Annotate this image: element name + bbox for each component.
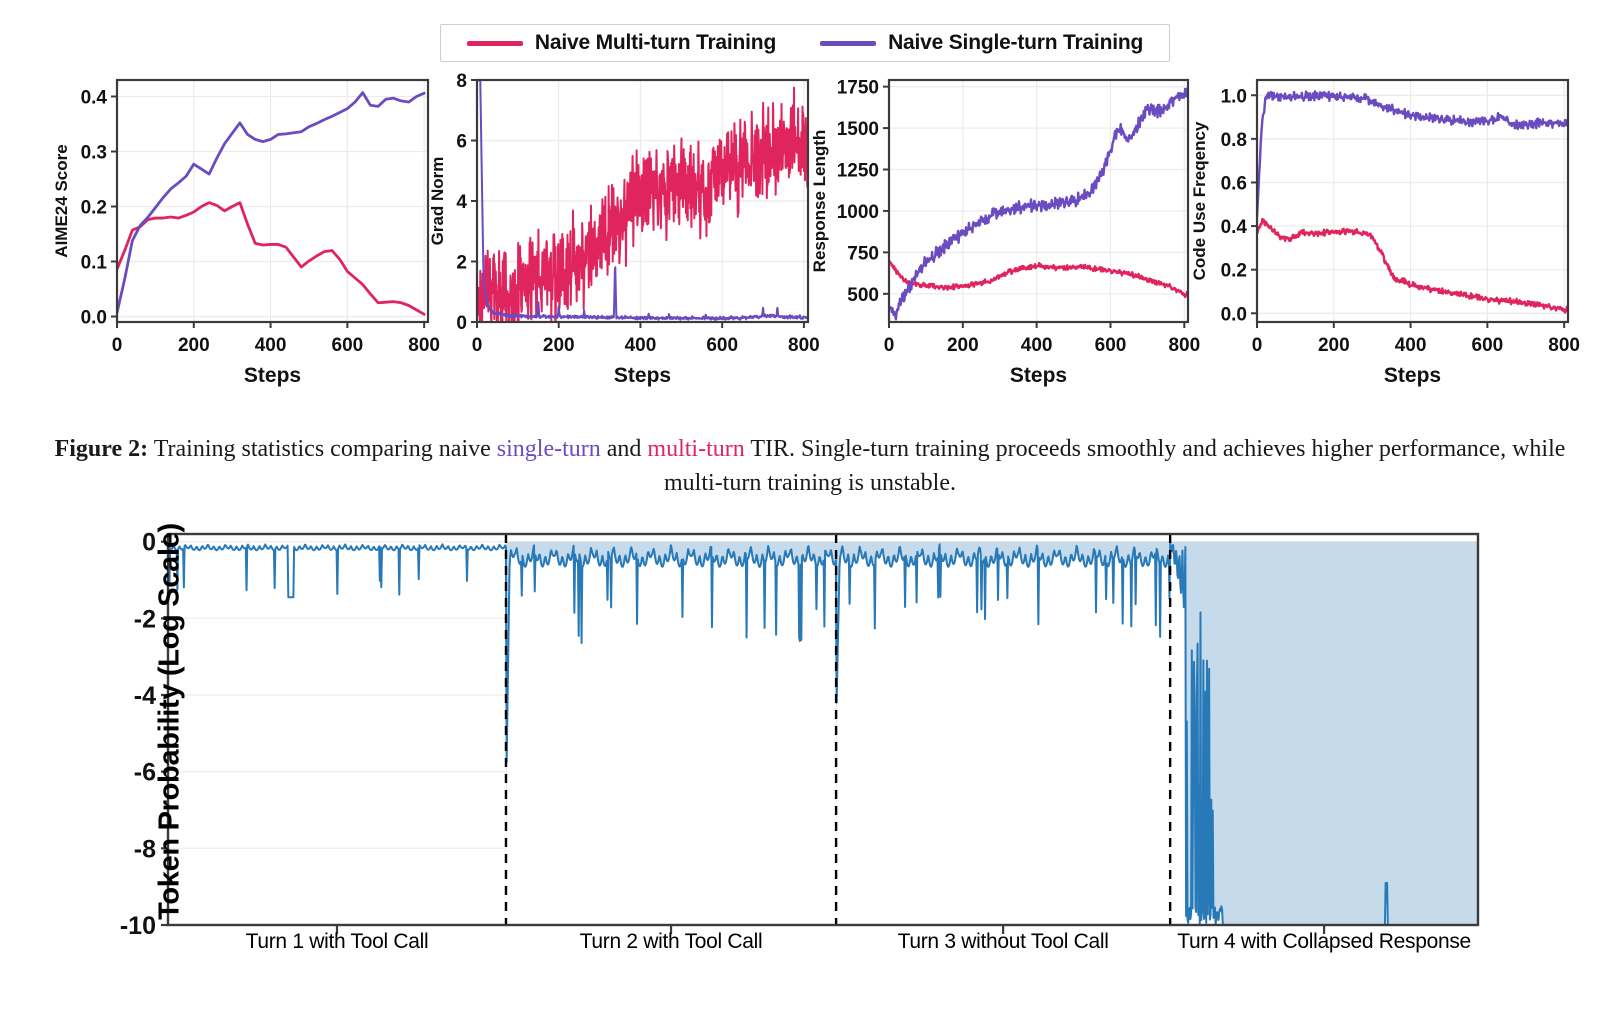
svg-text:0: 0 xyxy=(472,335,483,356)
caption-single-turn-term: single-turn xyxy=(497,436,601,462)
token-probability-ylabel: Token Probability (Log Scale) xyxy=(154,512,187,932)
svg-text:0.8: 0.8 xyxy=(1221,130,1247,151)
figure-2-panels: 0.00.10.20.30.40200400600800StepsAIME24 … xyxy=(0,64,1623,394)
svg-text:Steps: Steps xyxy=(1384,364,1441,387)
svg-text:AIME24 Score: AIME24 Score xyxy=(52,144,71,257)
svg-text:400: 400 xyxy=(1021,335,1053,356)
svg-text:1750: 1750 xyxy=(837,78,879,99)
svg-text:0.1: 0.1 xyxy=(81,253,108,274)
turn-label-4: Turn 4 with Collapsed Response xyxy=(1124,930,1524,954)
caption-figure-number: Figure 2: xyxy=(55,436,149,462)
caption-part-3: TIR. Single-turn training proceeds smoot… xyxy=(664,436,1565,496)
svg-text:Code Use Freqency: Code Use Freqency xyxy=(1190,121,1209,280)
svg-text:800: 800 xyxy=(1548,335,1580,356)
figure-2-legend: Naive Multi-turn Training Naive Single-t… xyxy=(440,24,1170,62)
legend-entry-single-turn: Naive Single-turn Training xyxy=(820,31,1143,55)
svg-text:400: 400 xyxy=(255,335,287,356)
chart-response-length: 50075010001250150017500200400600800Steps… xyxy=(805,64,1200,394)
legend-entry-multi-turn: Naive Multi-turn Training xyxy=(467,31,776,55)
svg-text:0: 0 xyxy=(112,335,123,356)
svg-text:0.4: 0.4 xyxy=(81,88,108,109)
svg-text:0.2: 0.2 xyxy=(1221,261,1247,282)
svg-text:1.0: 1.0 xyxy=(1221,86,1247,107)
turn-segment-labels: Turn 1 with Tool Call Turn 2 with Tool C… xyxy=(0,930,1623,970)
svg-text:Steps: Steps xyxy=(244,364,301,387)
chart-aime24-score: 0.00.10.20.30.40200400600800StepsAIME24 … xyxy=(45,64,440,394)
svg-text:500: 500 xyxy=(847,285,879,306)
svg-text:1500: 1500 xyxy=(837,119,879,140)
svg-text:1250: 1250 xyxy=(837,161,879,182)
svg-text:0: 0 xyxy=(456,313,467,334)
svg-text:Response Length: Response Length xyxy=(810,130,829,273)
svg-text:200: 200 xyxy=(947,335,979,356)
svg-text:Grad Norm: Grad Norm xyxy=(428,157,447,246)
token-probability-ylabel-holder: Token Probability (Log Scale) xyxy=(90,520,136,920)
svg-text:0.4: 0.4 xyxy=(1221,217,1248,238)
svg-text:Steps: Steps xyxy=(614,364,671,387)
svg-text:8: 8 xyxy=(456,71,467,92)
svg-text:200: 200 xyxy=(178,335,210,356)
svg-text:750: 750 xyxy=(847,243,879,264)
legend-label-single-turn: Naive Single-turn Training xyxy=(888,31,1143,55)
legend-swatch-multi-turn xyxy=(467,41,523,46)
svg-text:0: 0 xyxy=(1252,335,1263,356)
svg-text:600: 600 xyxy=(1095,335,1127,356)
figure-2-container: Naive Multi-turn Training Naive Single-t… xyxy=(0,0,1623,420)
svg-text:0: 0 xyxy=(884,335,895,356)
caption-part-2: and xyxy=(601,436,648,462)
chart-code-use-frequency: 0.00.20.40.60.81.00200400600800StepsCode… xyxy=(1185,64,1580,394)
svg-text:2: 2 xyxy=(456,253,467,274)
svg-text:200: 200 xyxy=(543,335,575,356)
legend-swatch-single-turn xyxy=(820,41,876,46)
svg-text:600: 600 xyxy=(706,335,738,356)
svg-text:0.2: 0.2 xyxy=(81,198,107,219)
legend-label-multi-turn: Naive Multi-turn Training xyxy=(535,31,776,55)
svg-text:0.0: 0.0 xyxy=(81,308,107,329)
svg-text:400: 400 xyxy=(625,335,657,356)
svg-text:200: 200 xyxy=(1318,335,1350,356)
svg-text:0.6: 0.6 xyxy=(1221,173,1247,194)
svg-text:0.0: 0.0 xyxy=(1221,304,1247,325)
chart-grad-norm: 024680200400600800StepsGrad Norm xyxy=(425,64,820,394)
figure-2-caption: Figure 2: Training statistics comparing … xyxy=(45,432,1575,500)
svg-text:600: 600 xyxy=(1472,335,1504,356)
svg-text:400: 400 xyxy=(1395,335,1427,356)
svg-text:0.3: 0.3 xyxy=(81,143,107,164)
svg-text:4: 4 xyxy=(456,192,467,213)
caption-part-1: Training statistics comparing naive xyxy=(148,436,497,462)
caption-multi-turn-term: multi-turn xyxy=(647,436,744,462)
svg-text:600: 600 xyxy=(332,335,364,356)
svg-text:1000: 1000 xyxy=(837,202,879,223)
svg-text:6: 6 xyxy=(456,132,467,153)
svg-text:Steps: Steps xyxy=(1010,364,1067,387)
